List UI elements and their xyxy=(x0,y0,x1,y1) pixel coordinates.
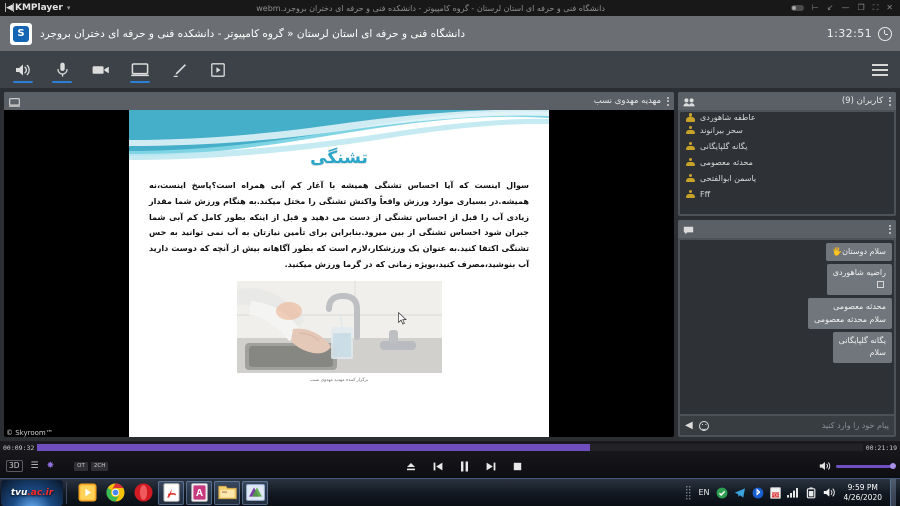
list-item[interactable]: یگانه گلپایگانی xyxy=(680,138,894,154)
battery-icon[interactable] xyxy=(806,487,817,499)
session-timer-value: 1:32:51 xyxy=(827,27,872,40)
list-item: یگانه گلپایگانی سلام xyxy=(833,332,892,363)
skyroom-menu-button[interactable] xyxy=(872,64,888,76)
camera-icon[interactable] xyxy=(90,58,112,82)
user-avatar-icon xyxy=(686,158,695,167)
system-tray: EN PDF 9:59 PM 4/ xyxy=(686,479,900,506)
room-title: دانشگاه فنی و حرفه ای استان لرستان « گرو… xyxy=(40,28,465,40)
skyroom-toolbar xyxy=(0,52,900,88)
kmplayer-logo-icon: |◀| xyxy=(4,3,14,13)
screen-share-icon[interactable] xyxy=(129,58,151,82)
slide: تشنگی سوال اینست که آیا احساس تشنگی همیش… xyxy=(129,110,549,437)
close-icon[interactable]: ✕ xyxy=(886,4,893,12)
list-item: راضیه شاهوردی xyxy=(827,264,892,295)
pin-window-icon[interactable]: ⊢ xyxy=(812,4,819,12)
clock-area[interactable]: 9:59 PM 4/26/2020 xyxy=(842,483,884,503)
mouse-cursor-icon xyxy=(398,312,407,325)
chat-text: سلام محدثه معصومی xyxy=(814,314,886,326)
taskbar-divider xyxy=(66,482,67,504)
svg-text:PDF: PDF xyxy=(771,492,780,497)
media-player-icon[interactable] xyxy=(207,58,229,82)
previous-button[interactable] xyxy=(433,462,443,471)
chat-text: سلام دوستان🖐 xyxy=(832,246,886,258)
pause-button[interactable] xyxy=(460,461,469,472)
output-badge: OT xyxy=(74,462,88,471)
seek-row: 00:09:32 00:21:19 xyxy=(0,441,900,454)
skyroom-body: مهدیه مهدوی نسب تشنگی سوا xyxy=(0,88,900,441)
list-item[interactable]: یاسمن ابوالفتحی xyxy=(680,170,894,186)
list-item[interactable]: Fff xyxy=(680,186,894,202)
show-desktop-button[interactable] xyxy=(890,479,896,506)
microphone-icon[interactable] xyxy=(51,58,73,82)
pdf-icon[interactable]: PDF xyxy=(770,487,781,499)
user-name: سحر بیرانوند xyxy=(700,126,743,135)
skyroom-copyright: © Skyroom™ xyxy=(6,429,53,437)
player-controls: 00:09:32 00:21:19 3D ☰ ✸ OT 2CH xyxy=(0,441,900,478)
volume-level xyxy=(836,465,894,468)
svg-text:A: A xyxy=(195,488,202,499)
presentation-panel-bar: مهدیه مهدوی نسب xyxy=(4,92,674,110)
stage-column: مهدیه مهدوی نسب تشنگی سوا xyxy=(4,92,674,437)
presentation-stage: تشنگی سوال اینست که آیا احساس تشنگی همیش… xyxy=(4,110,674,437)
tray-date: 4/26/2020 xyxy=(844,493,882,503)
stop-button[interactable] xyxy=(513,462,522,471)
start-button[interactable]: tvu.ac.ir xyxy=(1,480,63,506)
user-name: محدثه معصومی xyxy=(700,158,753,167)
screen-root: |◀| KMPlayer ▾ دانشگاه فنی و حرفه ای است… xyxy=(0,0,900,506)
users-panel-bar: کاربران (9) xyxy=(678,92,896,110)
window-controls: ⊢ ↙ — ❐ ⛶ ✕ xyxy=(791,4,900,12)
channels-badge: 2CH xyxy=(91,462,108,471)
playlist-button[interactable]: ☰ xyxy=(31,462,39,471)
user-avatar-icon xyxy=(686,113,695,122)
tap-water-photo xyxy=(237,281,442,373)
taskbar-opera-browser[interactable] xyxy=(130,481,156,505)
total-duration: 00:21:19 xyxy=(863,444,900,452)
volume-slider[interactable] xyxy=(836,465,894,468)
presentation-panel: مهدیه مهدوی نسب تشنگی سوا xyxy=(4,92,674,437)
user-name: یگانه گلپایگانی xyxy=(700,142,747,151)
right-sidebar: کاربران (9) عاطفه شاهوردی سحر بیرانوند xyxy=(678,92,896,437)
people-icon xyxy=(683,92,695,111)
taskbar-media-player[interactable] xyxy=(74,481,100,505)
antivirus-icon[interactable] xyxy=(716,487,728,499)
presentation-screen-icon xyxy=(9,92,20,111)
chat-panel-bar xyxy=(678,220,896,238)
skyroom-app: 1:32:51 دانشگاه فنی و حرفه ای استان لرست… xyxy=(0,16,900,441)
chat-messages[interactable]: سلام دوستان🖐 راضیه شاهوردی محدثه معصومی … xyxy=(680,240,894,414)
eject-button[interactable] xyxy=(406,462,416,471)
user-name: عاطفه شاهوردی xyxy=(700,113,756,122)
clock-icon xyxy=(878,27,892,41)
tray-expand-icon[interactable] xyxy=(686,485,692,501)
seek-slider[interactable] xyxy=(37,444,862,451)
slide-photo xyxy=(237,281,442,373)
chat-panel: سلام دوستان🖐 راضیه شاهوردی محدثه معصومی … xyxy=(678,220,896,437)
skyroom-logo-icon: S xyxy=(10,23,32,45)
skyroom-logo-letter: S xyxy=(13,26,29,42)
presenter-name: مهدیه مهدوی نسب xyxy=(594,96,661,106)
volume-tray-icon[interactable] xyxy=(823,487,836,498)
bluetooth-icon[interactable] xyxy=(752,487,764,499)
chat-text: سلام xyxy=(839,347,886,359)
user-avatar-icon xyxy=(686,174,695,183)
taskbar-adobe-reader[interactable] xyxy=(158,481,184,505)
network-icon[interactable] xyxy=(787,487,800,498)
user-name: یاسمن ابوالفتحی xyxy=(700,174,756,183)
user-avatar-icon xyxy=(686,126,695,135)
chat-sender: محدثه معصومی xyxy=(814,301,886,313)
chat-sender: یگانه گلپایگانی xyxy=(839,335,886,347)
user-avatar-icon xyxy=(686,190,695,199)
windows-taskbar: tvu.ac.ir A xyxy=(0,478,900,506)
minimize-to-corner-icon[interactable]: ↙ xyxy=(827,4,834,12)
users-options-button[interactable] xyxy=(889,97,891,106)
user-name: Fff xyxy=(700,190,710,199)
list-item: محدثه معصومی سلام محدثه معصومی xyxy=(808,298,892,329)
next-button[interactable] xyxy=(486,462,496,471)
chat-sender: راضیه شاهوردی xyxy=(833,267,886,279)
session-timer: 1:32:51 xyxy=(827,27,892,41)
list-item[interactable]: سحر بیرانوند xyxy=(680,122,894,138)
taskbar-format-factory[interactable] xyxy=(242,481,268,505)
list-item[interactable]: محدثه معصومی xyxy=(680,154,894,170)
list-item[interactable]: عاطفه شاهوردی xyxy=(680,113,894,122)
whiteboard-pen-icon[interactable] xyxy=(168,58,190,82)
chat-bubble-icon xyxy=(683,220,694,239)
skyroom-header: 1:32:51 دانشگاه فنی و حرفه ای استان لرست… xyxy=(0,16,900,52)
users-list[interactable]: عاطفه شاهوردی سحر بیرانوند یگانه گلپایگا… xyxy=(680,112,894,214)
user-avatar-icon xyxy=(686,142,695,151)
kmplayer-brand-label: KMPlayer xyxy=(15,3,63,13)
volume-knob[interactable] xyxy=(890,463,896,469)
volume-icon[interactable] xyxy=(819,461,831,471)
elapsed-time: 00:09:32 xyxy=(0,444,37,452)
slide-body-text: سوال اینست که آیا احساس تشنگی همیشه با آ… xyxy=(149,178,529,273)
taskbar-apps: A xyxy=(70,481,268,505)
seek-progress xyxy=(37,444,590,451)
users-panel: کاربران (9) عاطفه شاهوردی سحر بیرانوند xyxy=(678,92,896,216)
language-indicator[interactable]: EN xyxy=(698,488,709,497)
slide-caption: برگزار کننده مهدیه مهدوی نسب xyxy=(129,378,549,383)
chat-text xyxy=(833,280,886,292)
taskbar-file-explorer[interactable] xyxy=(214,481,240,505)
restore-icon[interactable]: ❐ xyxy=(858,4,865,12)
speaker-icon[interactable] xyxy=(12,58,34,82)
opacity-toggle-icon[interactable] xyxy=(791,5,804,11)
chat-options-button[interactable] xyxy=(889,225,891,234)
skyroom-footer: © Skyroom™ xyxy=(0,425,900,441)
start-button-label: tvu.ac.ir xyxy=(11,488,53,498)
taskbar-google-chrome[interactable] xyxy=(102,481,128,505)
taskbar-ms-access[interactable]: A xyxy=(186,481,212,505)
presentation-options-button[interactable] xyxy=(667,97,669,106)
users-panel-title: کاربران (9) xyxy=(842,96,883,106)
list-item: سلام دوستان🖐 xyxy=(826,243,892,261)
3d-button[interactable]: 3D xyxy=(6,460,23,472)
window-filename-label: دانشگاه فنی و حرفه ای استان لرستان - گرو… xyxy=(70,4,791,13)
settings-gear-button[interactable]: ✸ xyxy=(47,462,55,471)
fullscreen-icon[interactable]: ⛶ xyxy=(873,4,879,12)
kmplayer-title-bar: |◀| KMPlayer ▾ دانشگاه فنی و حرفه ای است… xyxy=(0,0,900,16)
slide-title: تشنگی xyxy=(129,148,549,168)
transport-row: 3D ☰ ✸ OT 2CH xyxy=(0,454,900,478)
minimize-icon[interactable]: — xyxy=(842,4,850,12)
telegram-icon[interactable] xyxy=(734,487,746,499)
tray-time: 9:59 PM xyxy=(844,483,882,493)
